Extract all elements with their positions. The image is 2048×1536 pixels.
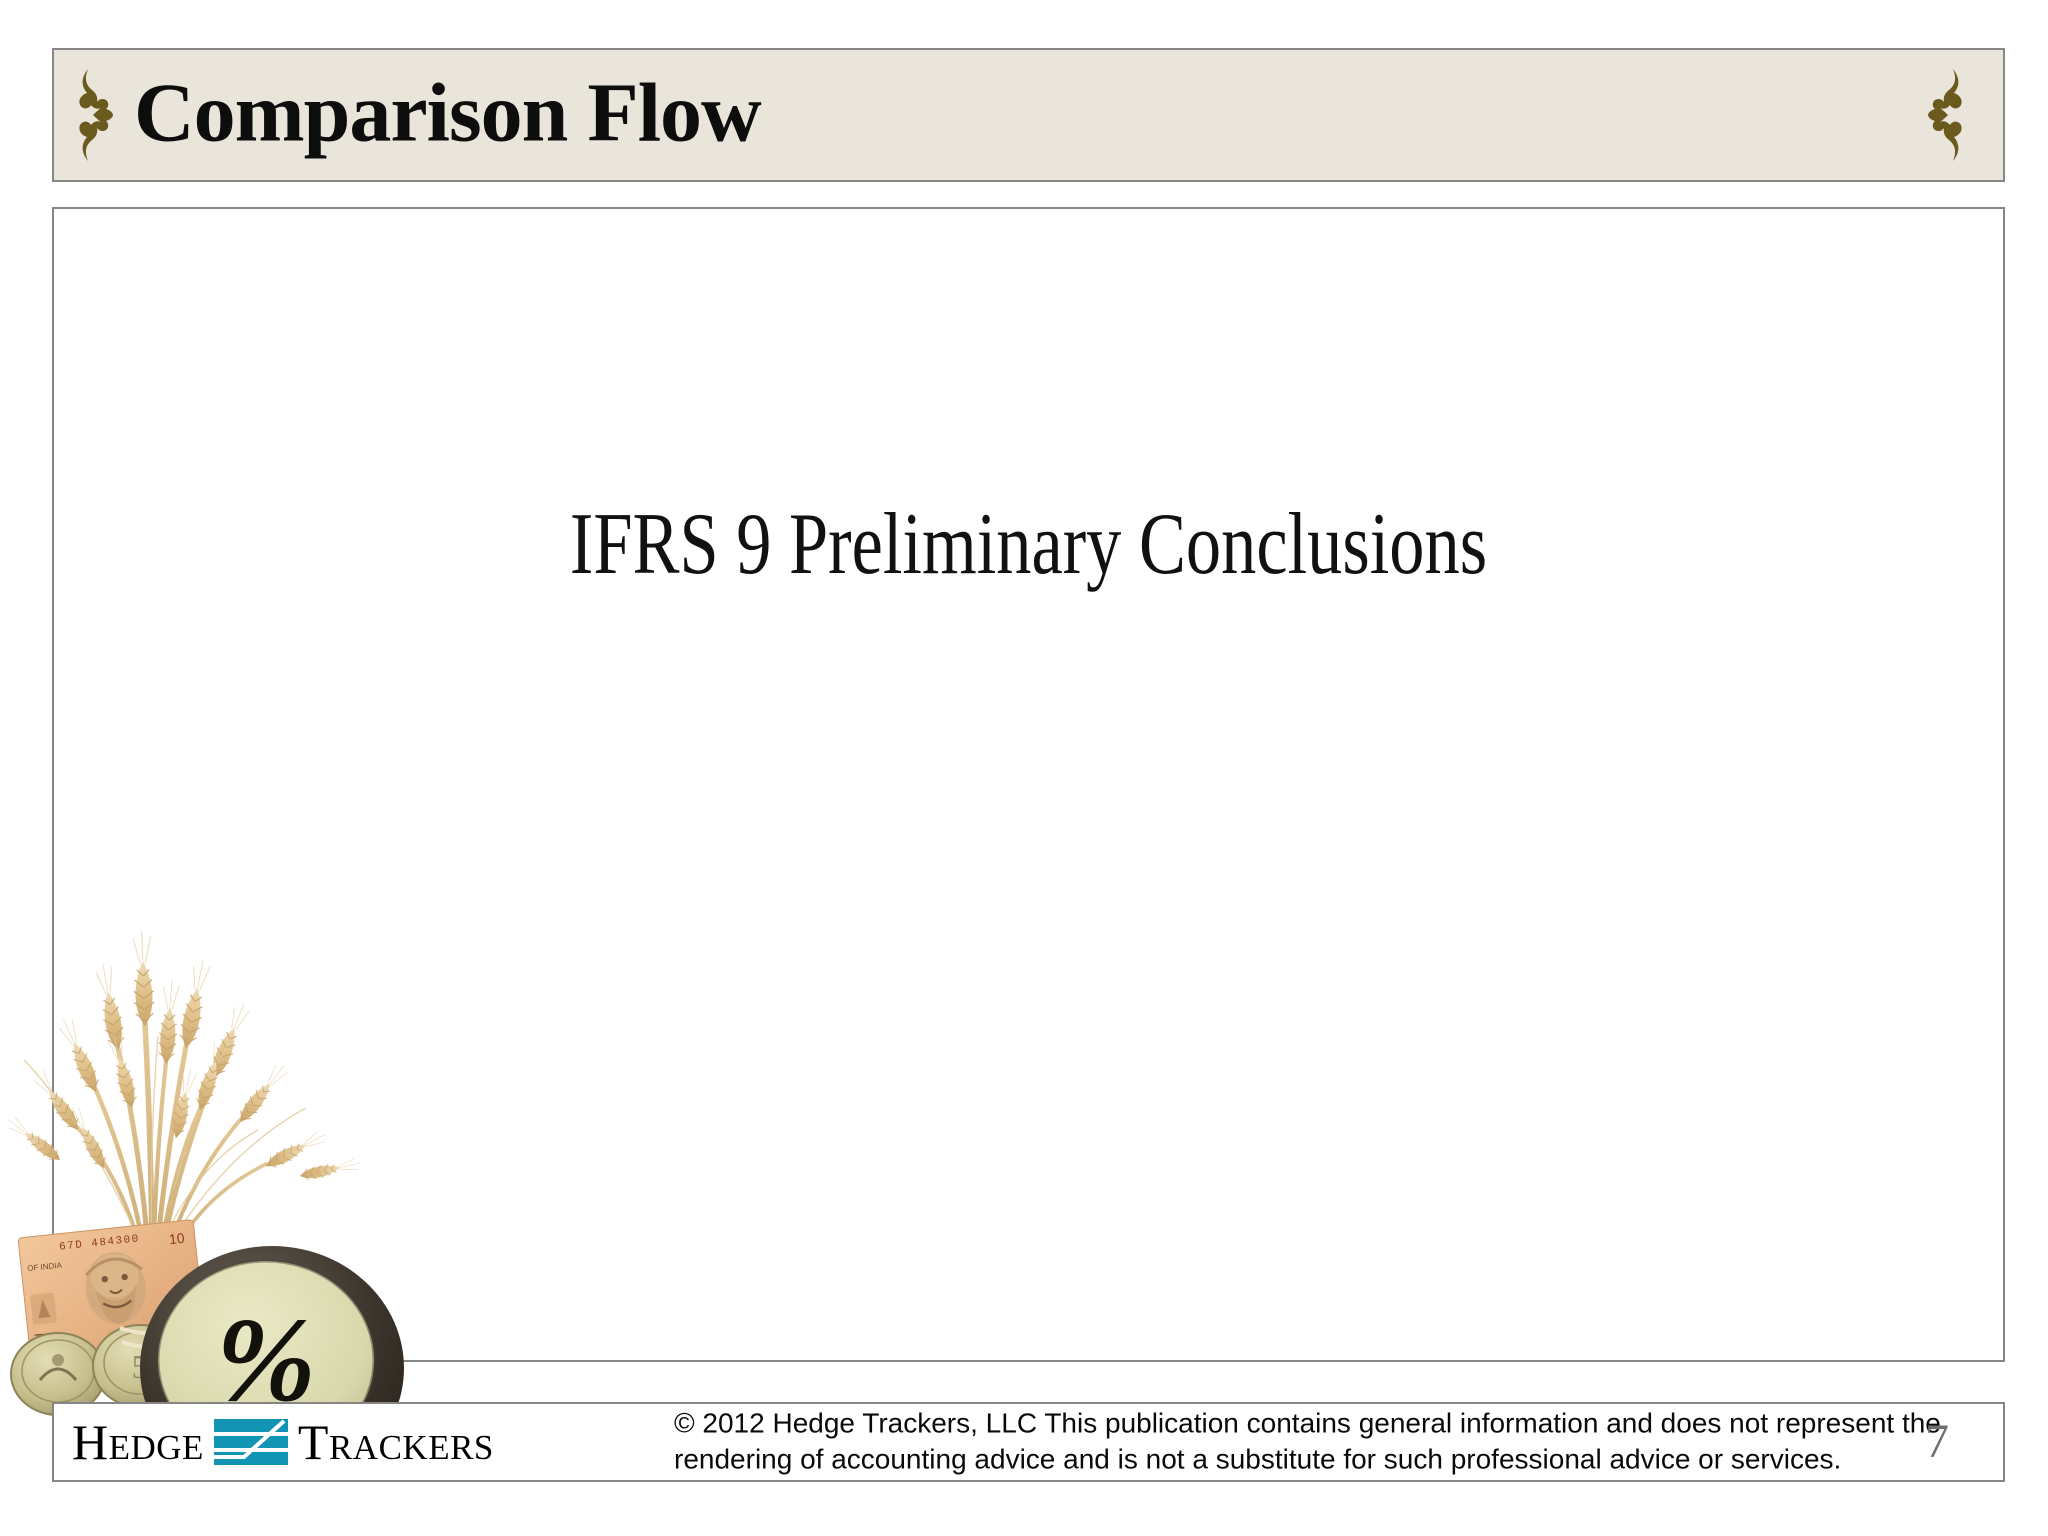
logo-word-trackers: Trackers [298,1417,494,1467]
teal-chart-mark-icon [214,1419,288,1465]
slide-title-bar: Comparison Flow [52,48,2005,182]
page-title: Comparison Flow [134,71,761,155]
copyright-disclaimer: © 2012 Hedge Trackers, LLC This publicat… [674,1406,1964,1479]
logo-word-hedge: Hedge [72,1417,204,1467]
hedge-trackers-logo: Hedge Trackers [72,1414,494,1470]
page-number: 7 [1925,1418,1949,1466]
slide-footer: Hedge Trackers © 2012 Hedge Trackers, LL… [52,1402,2005,1482]
flourish-ornament-left-icon [68,67,114,163]
slide-canvas: Comparison Flow IFRS 9 Preliminary Concl… [0,0,2048,1536]
content-heading: IFRS 9 Preliminary Conclusions [249,499,1808,591]
slide-content-area: IFRS 9 Preliminary Conclusions [52,207,2005,1362]
flourish-ornament-right-icon [1927,67,1973,163]
